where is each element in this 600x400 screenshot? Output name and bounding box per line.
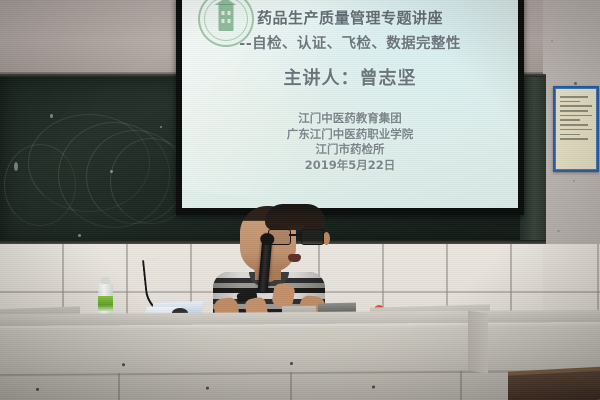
mouth bbox=[288, 254, 301, 262]
slide-content: 药品生产质量管理专题讲座 --自检、认证、飞检、数据完整性 主讲人：曾志坚 江门… bbox=[182, 0, 518, 208]
organization-line-2: 广东江门中医药职业学院 bbox=[182, 127, 518, 143]
right-ear bbox=[323, 232, 330, 245]
podium-right-edge bbox=[468, 311, 488, 374]
organization-line-1: 江门中医药教育集团 bbox=[182, 111, 518, 127]
eyeglasses bbox=[268, 229, 322, 243]
lecture-photograph: 药品生产质量管理专题讲座 --自检、认证、飞检、数据完整性 主讲人：曾志坚 江门… bbox=[0, 0, 600, 400]
bottle-cap bbox=[101, 277, 110, 284]
slide-speaker-line: 主讲人：曾志坚 bbox=[182, 64, 518, 90]
slide-subtitle: --自检、认证、飞检、数据完整性 bbox=[182, 32, 518, 53]
slide-organizations: 江门中医药教育集团 广东江门中医药职业学院 江门市药检所 2019年5月22日 bbox=[182, 111, 518, 173]
slide-date: 2019年5月22日 bbox=[182, 158, 518, 174]
projection-screen: 药品生产质量管理专题讲座 --自检、认证、飞检、数据完整性 主讲人：曾志坚 江门… bbox=[182, 0, 518, 208]
slide-title: 药品生产质量管理专题讲座 bbox=[182, 7, 518, 28]
poster-text-block bbox=[555, 88, 597, 170]
wooden-bench bbox=[508, 369, 600, 400]
poster-pin bbox=[574, 82, 577, 85]
wall-poster bbox=[553, 86, 599, 172]
organization-line-3: 江门市药检所 bbox=[182, 142, 518, 158]
bottle-label bbox=[98, 296, 113, 311]
